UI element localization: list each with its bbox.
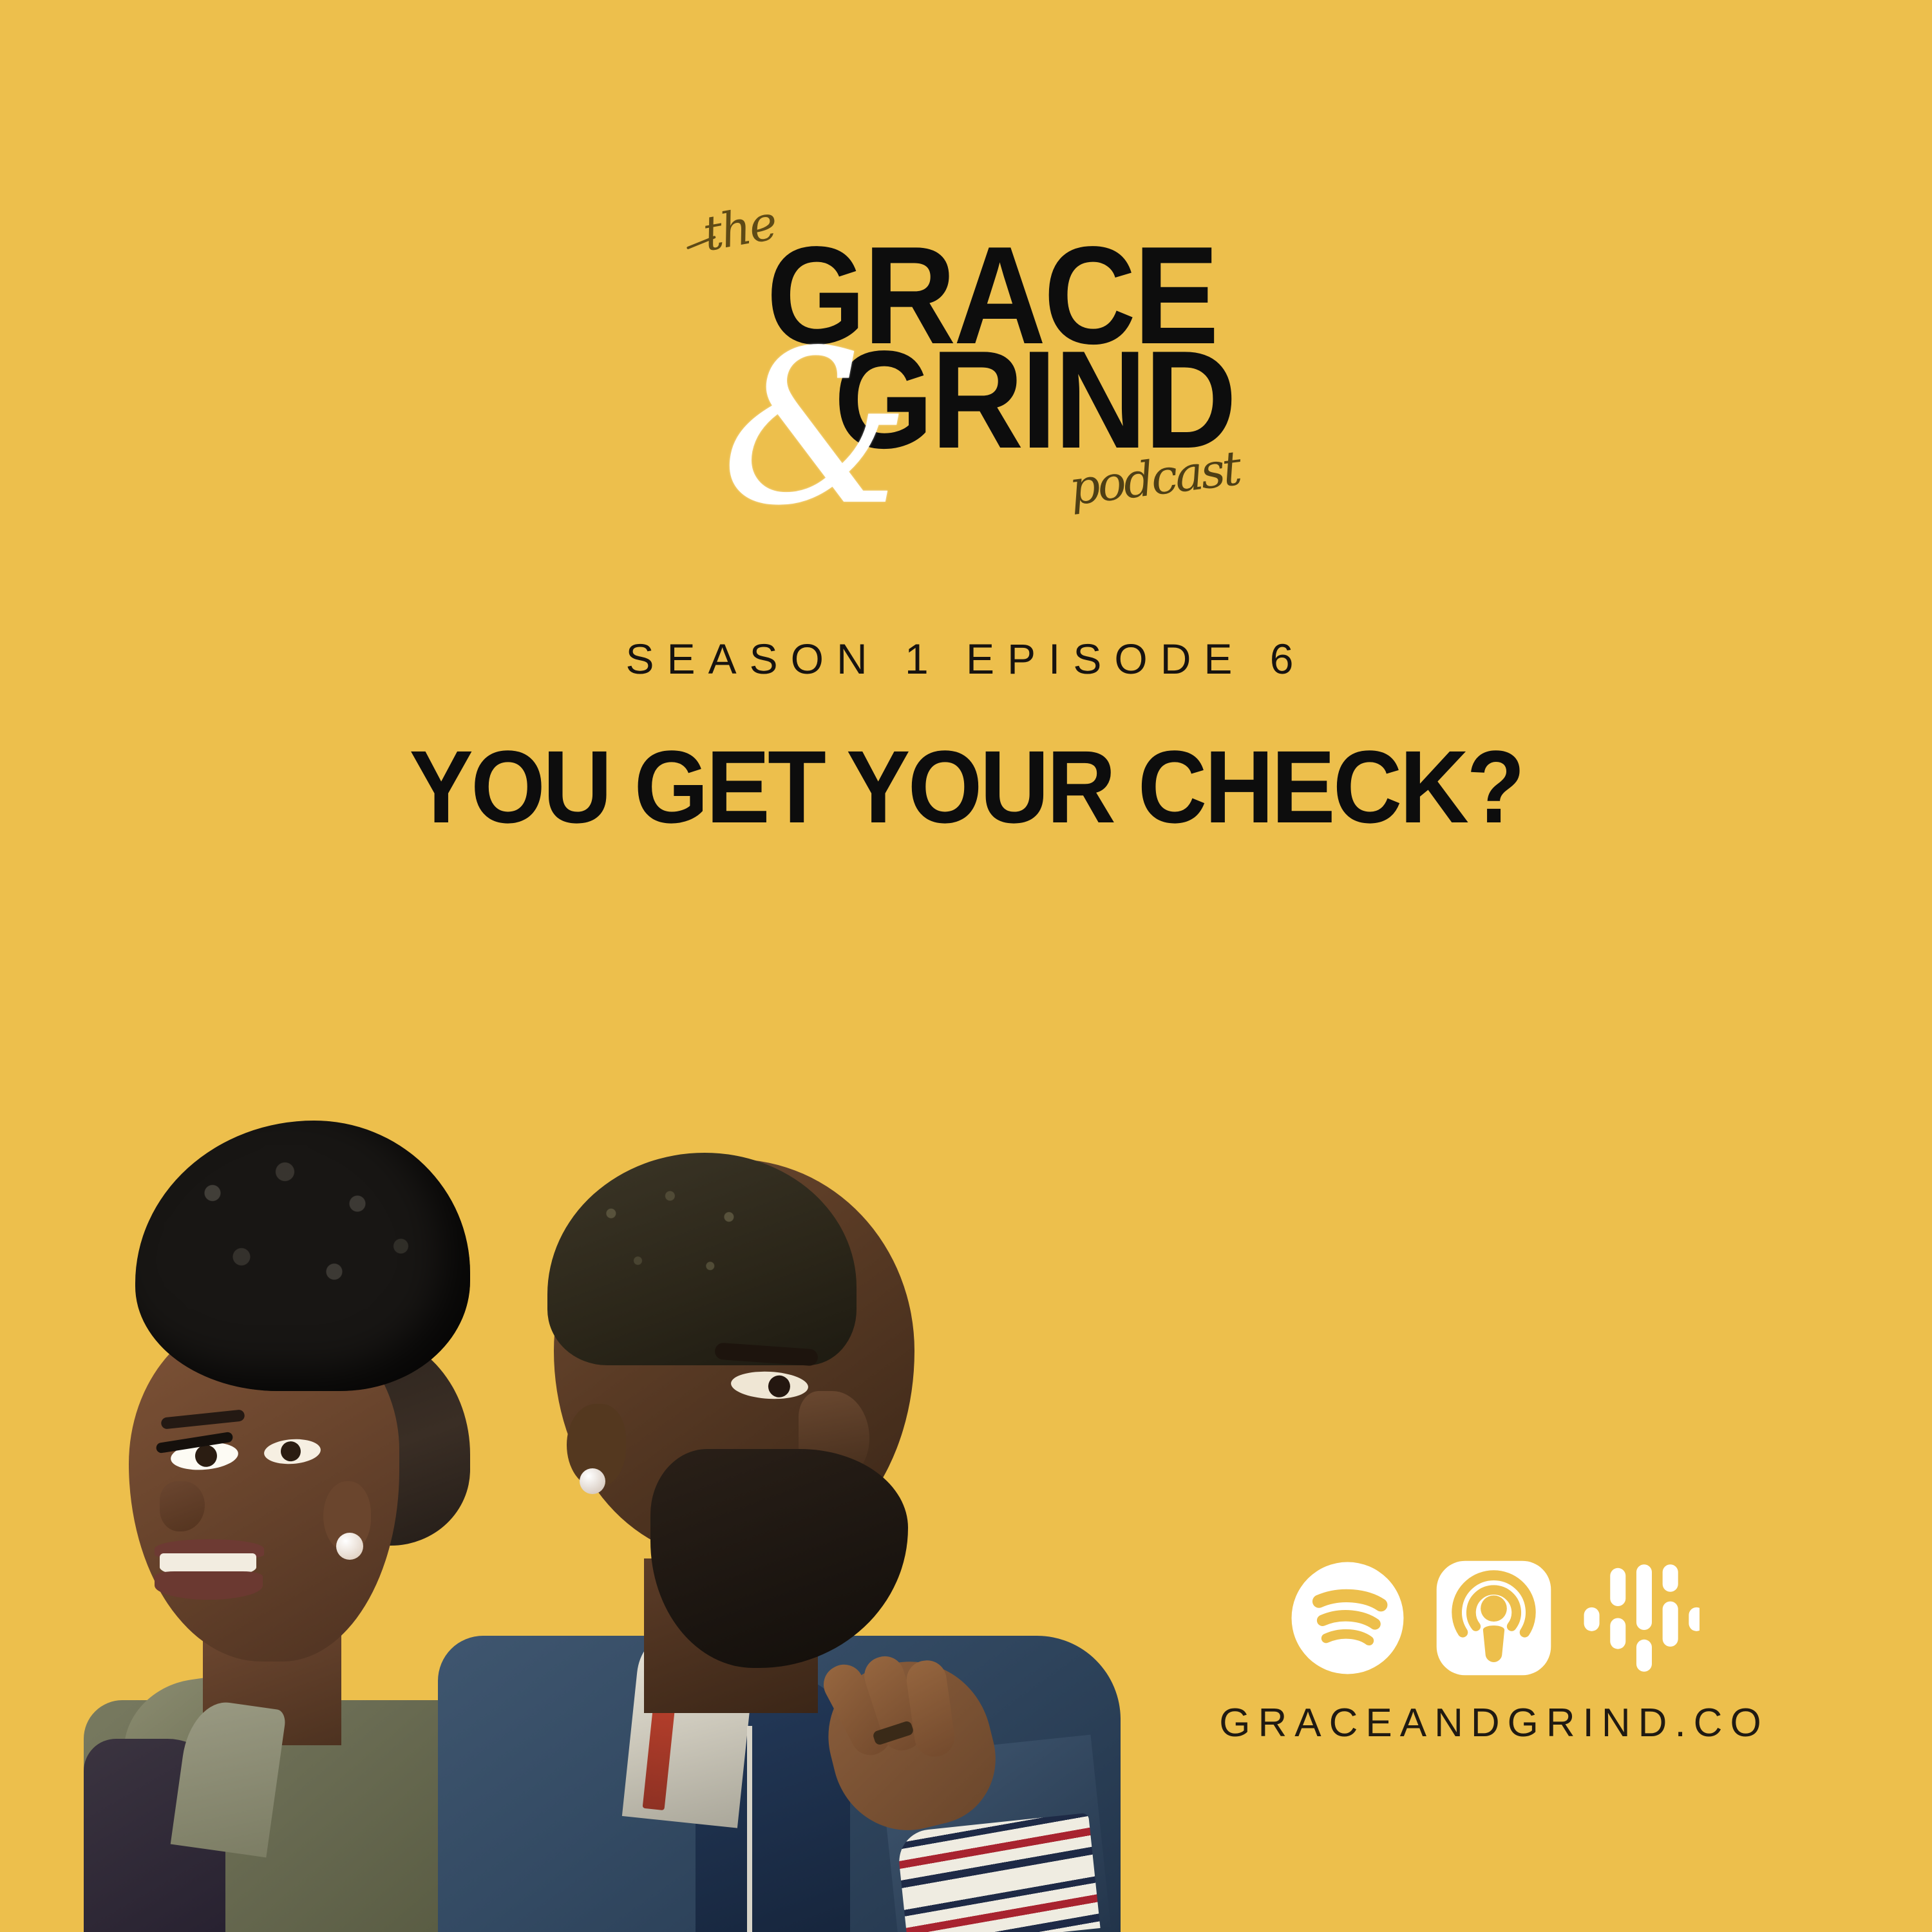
host-man [438,1146,1179,1932]
podcast-logo: the GRACE & GRIND podcast [676,193,1288,554]
episode-title: YOU GET YOUR CHECK? [68,728,1864,846]
woman-hair [135,1121,470,1391]
man-striped-cuff [896,1813,1100,1932]
season-episode-label: SEASON 1 EPISODE 6 [0,634,1932,683]
website-url[interactable]: GRACEANDGRIND.CO [1198,1700,1790,1746]
woman-earring [336,1533,363,1560]
spotify-icon[interactable] [1288,1558,1407,1678]
man-earring [580,1468,605,1494]
platform-icons [1288,1558,1700,1678]
podcast-cover-art: the GRACE & GRIND podcast SEASON 1 EPISO… [0,0,1932,1932]
man-beard [650,1449,908,1668]
man-zipper [747,1726,752,1932]
apple-podcasts-icon[interactable] [1434,1558,1553,1678]
logo-ampersand: & [721,322,911,535]
google-podcasts-icon[interactable] [1580,1558,1700,1678]
woman-lower-lip [155,1571,263,1600]
hosts-photo [0,1095,1288,1932]
